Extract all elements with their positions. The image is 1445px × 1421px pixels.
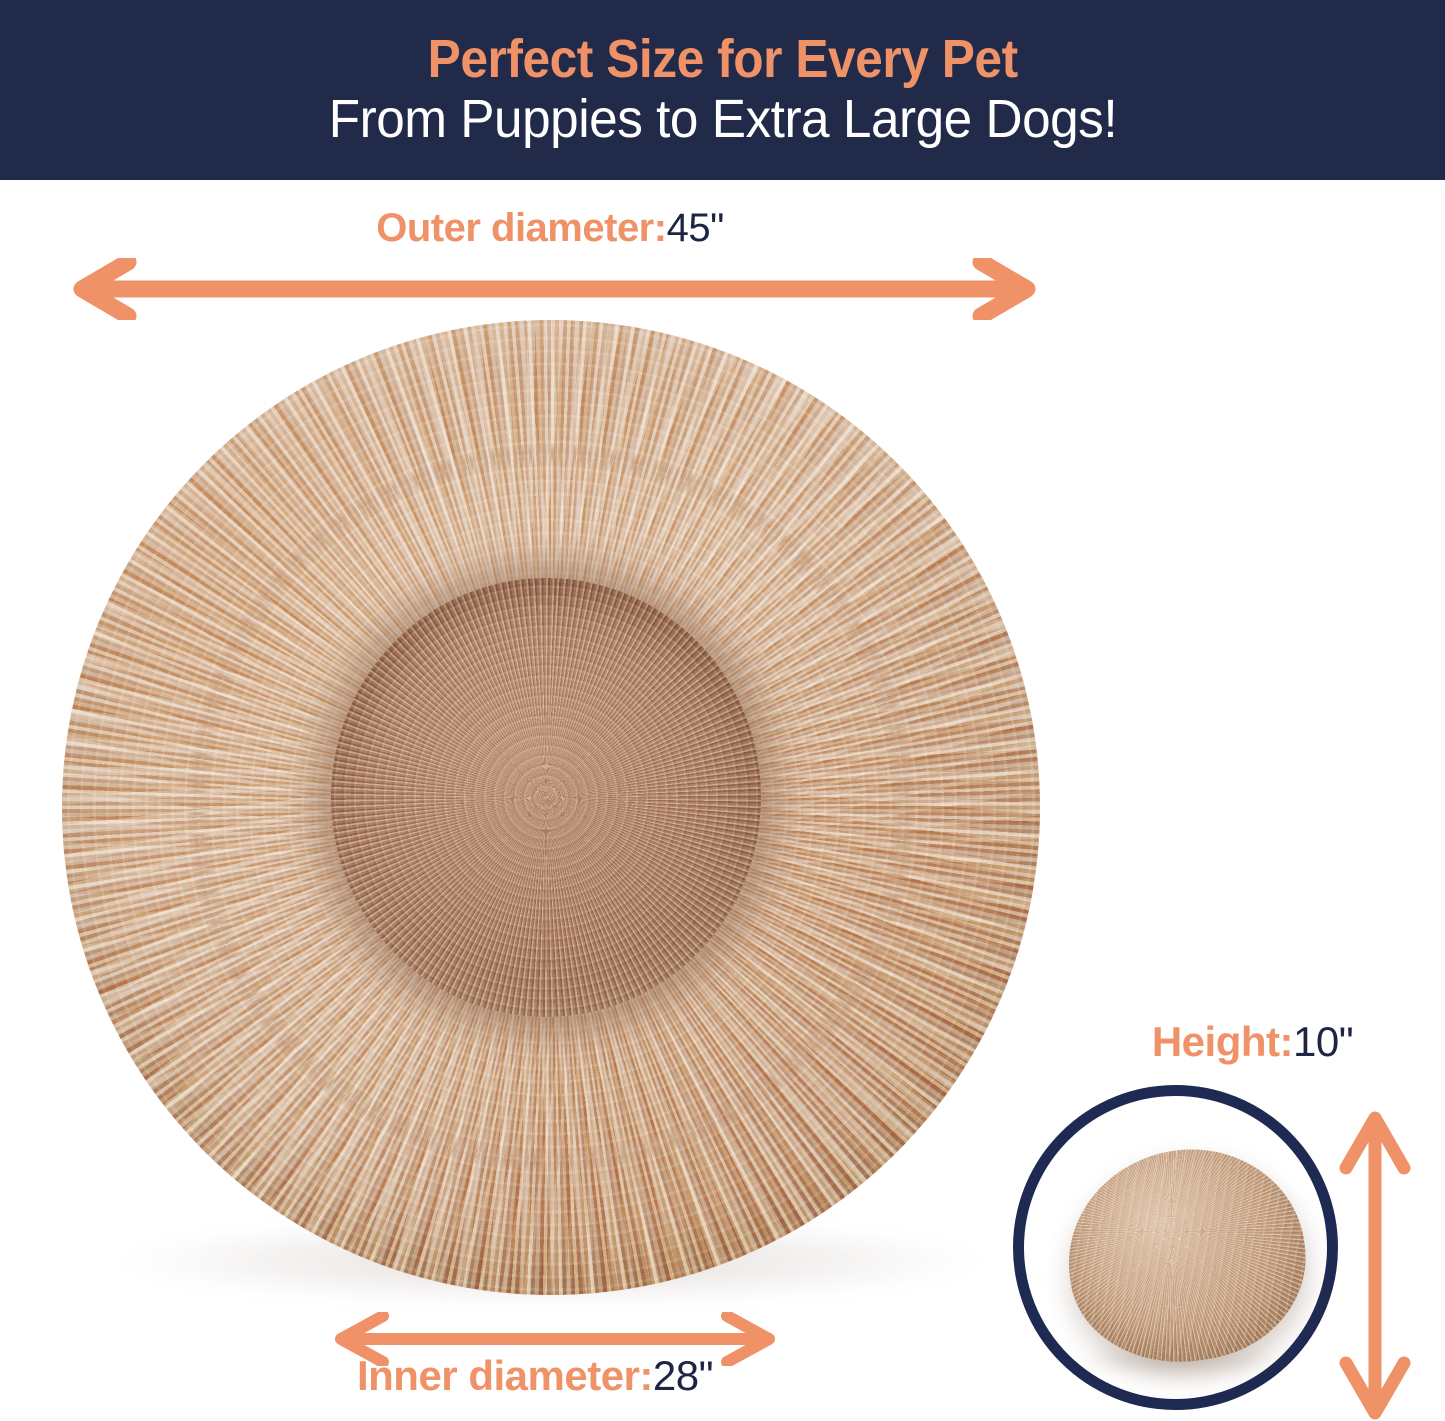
inner-diameter-term: Inner diameter:	[357, 1352, 653, 1399]
bed-outer-bolster	[62, 320, 1040, 1295]
outer-diameter-term: Outer diameter:	[376, 206, 666, 250]
pet-bed-top-view-image	[62, 320, 1040, 1295]
height-label: Height:10"	[1060, 1018, 1445, 1066]
outer-diameter-arrow-icon	[62, 258, 1047, 320]
outer-diameter-label: Outer diameter:45"	[0, 206, 1100, 251]
height-arrow-icon	[1332, 1110, 1418, 1421]
height-term: Height:	[1152, 1018, 1293, 1065]
height-value: 10"	[1293, 1018, 1353, 1065]
outer-diameter-value: 45"	[667, 206, 724, 250]
side-fur-texture-layer-b	[1055, 1135, 1319, 1377]
pet-bed-side-view-inset	[1013, 1085, 1338, 1410]
header-banner: Perfect Size for Every Pet From Puppies …	[0, 0, 1445, 180]
bed-side-profile	[1055, 1135, 1319, 1377]
inner-diameter-value: 28"	[653, 1352, 713, 1399]
inner-diameter-label: Inner diameter:28"	[0, 1352, 1070, 1400]
bed-inner-cushion	[331, 578, 761, 1017]
inner-fur-texture-layer-b	[331, 578, 761, 1017]
page-subheadline: From Puppies to Extra Large Dogs!	[328, 90, 1116, 149]
page-headline: Perfect Size for Every Pet	[427, 31, 1017, 88]
